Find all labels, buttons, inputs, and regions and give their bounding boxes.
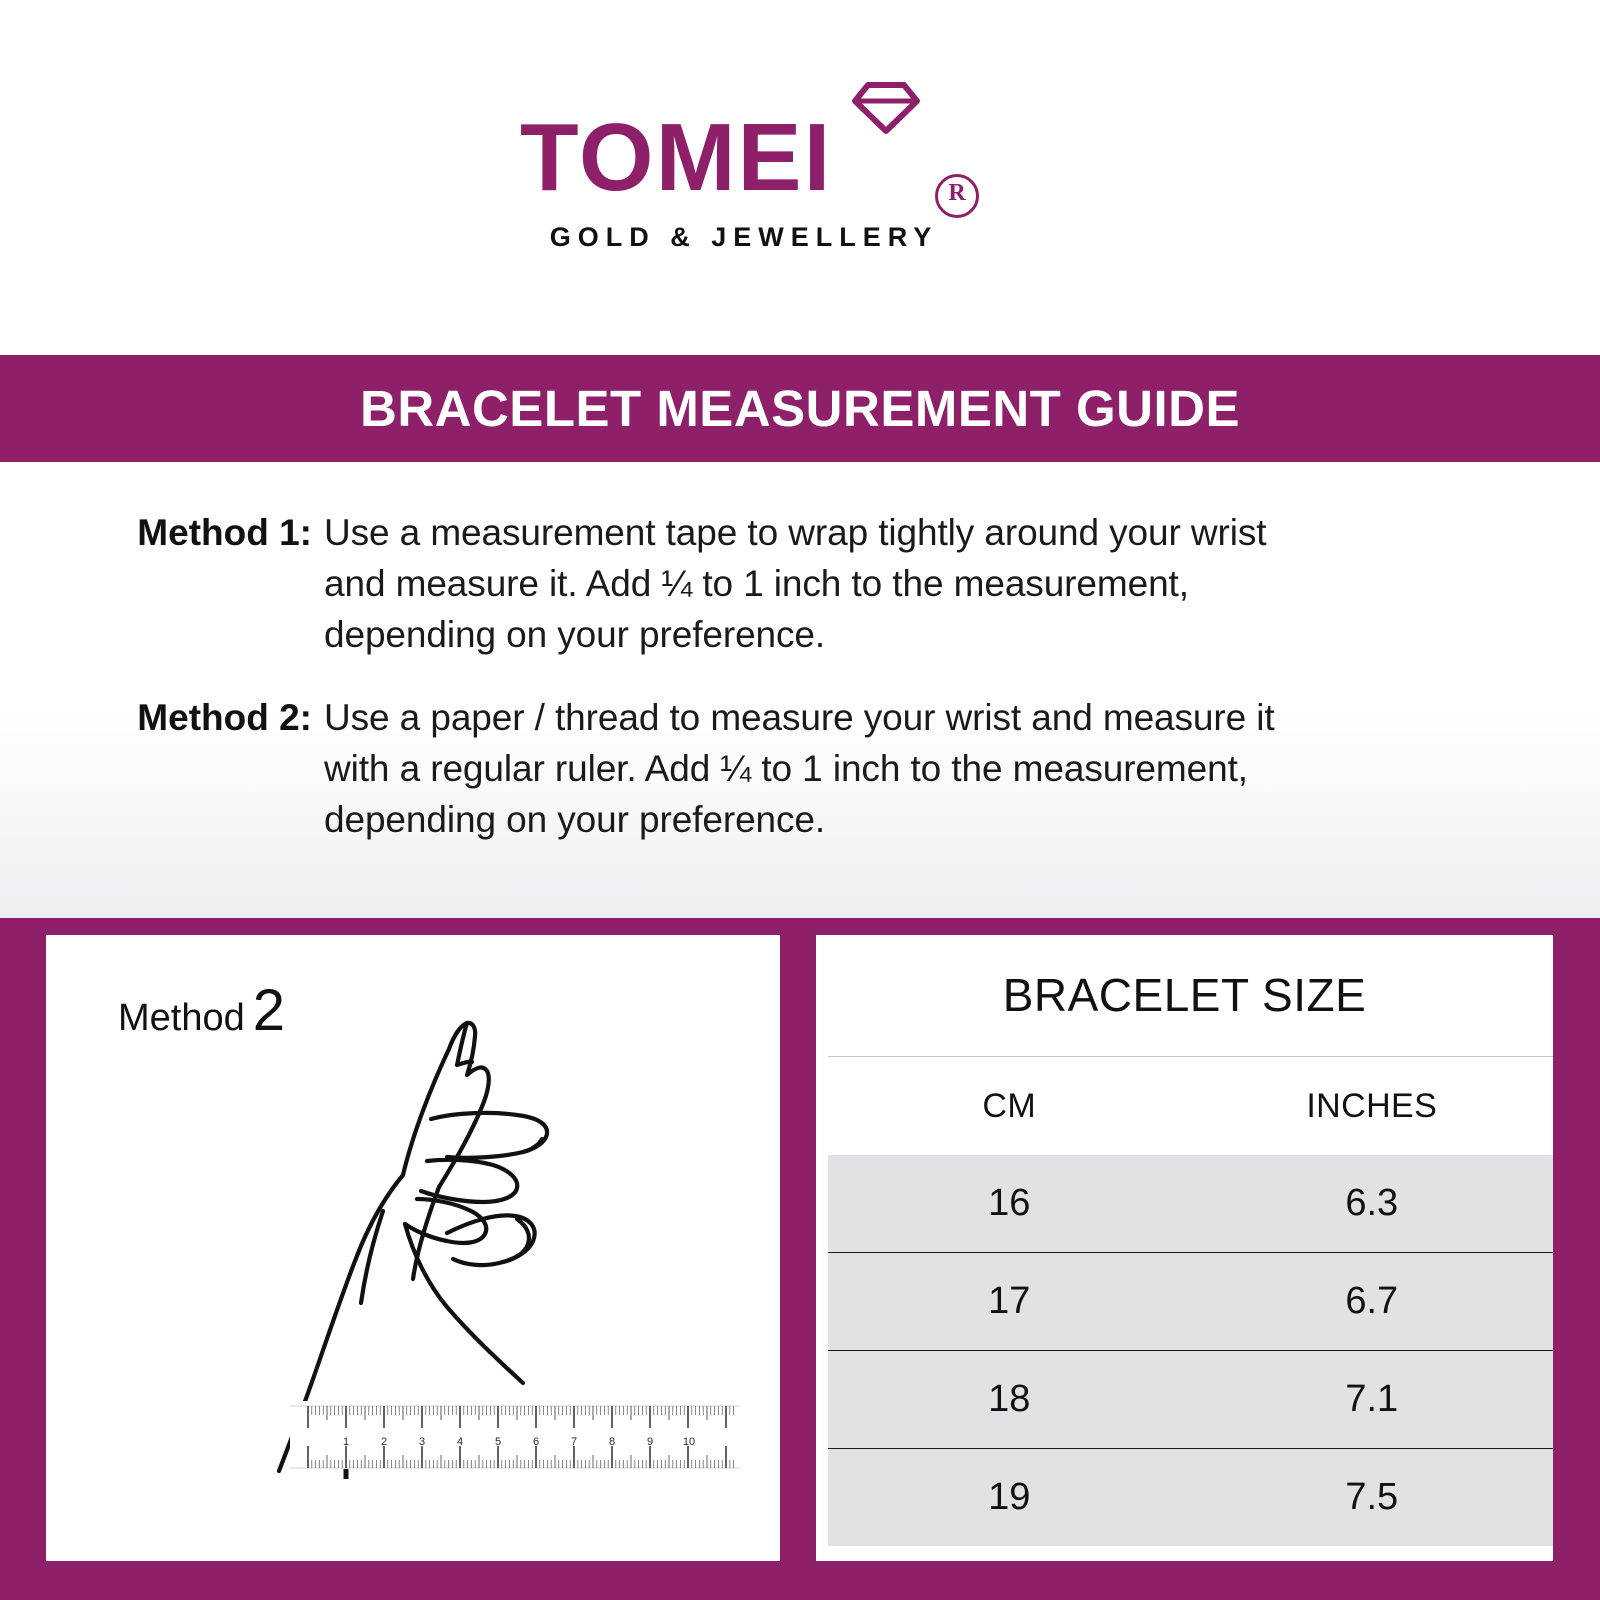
method-2-body: Use a paper / thread to measure your wri… <box>324 692 1484 845</box>
method-2-line-3: depending on your preference. <box>324 794 1484 845</box>
table-row: 18 7.1 <box>828 1351 1553 1449</box>
table-row: 17 6.7 <box>828 1253 1553 1351</box>
brand-tagline: GOLD & JEWELLERY <box>520 222 968 253</box>
ruler-label-3: 3 <box>419 1436 425 1448</box>
brand-wordmark: TOMEI <box>520 110 990 206</box>
size-table-col-inches: INCHES <box>1191 1057 1554 1155</box>
brand-logo: TOMEI R GOLD & JEWELLERY <box>520 82 1080 272</box>
ruler-label-9: 9 <box>647 1436 653 1448</box>
cell-cm: 17 <box>828 1253 1191 1351</box>
illustration-card: Method2 <box>46 935 780 1561</box>
cell-inches: 7.1 <box>1191 1351 1554 1449</box>
size-table-title: BRACELET SIZE <box>816 968 1553 1022</box>
method-1-label: Method 1: <box>112 507 312 558</box>
table-row: 19 7.5 <box>828 1449 1553 1547</box>
ruler-label-2: 2 <box>381 1436 387 1448</box>
cell-inches: 6.7 <box>1191 1253 1554 1351</box>
cell-inches: 7.5 <box>1191 1449 1554 1547</box>
cell-cm: 16 <box>828 1155 1191 1253</box>
size-table: CM INCHES 16 6.3 17 6.7 18 7.1 19 <box>828 1057 1553 1546</box>
bottom-panel-area: Method2 <box>0 918 1600 1600</box>
ruler-label-7: 7 <box>571 1436 577 1448</box>
illustration-method-word: Method <box>118 997 245 1039</box>
size-table-card: BRACELET SIZE CM INCHES 16 6.3 17 6.7 <box>816 935 1553 1561</box>
method-2-label: Method 2: <box>112 692 312 743</box>
size-table-header-row: CM INCHES <box>828 1057 1553 1155</box>
page-title-bar: BRACELET MEASUREMENT GUIDE <box>0 355 1600 462</box>
ruler-label-10: 10 <box>683 1436 695 1448</box>
cell-inches: 6.3 <box>1191 1155 1554 1253</box>
registered-trademark-icon: R <box>935 174 979 218</box>
method-1-line-3: depending on your preference. <box>324 609 1484 660</box>
methods-section: Method 1: Use a measurement tape to wrap… <box>0 462 1600 918</box>
ruler-icon: 1 2 3 4 5 6 7 8 9 10 <box>290 1397 740 1479</box>
ruler-label-6: 6 <box>533 1436 539 1448</box>
size-table-col-cm: CM <box>828 1057 1191 1155</box>
method-1-line-2: and measure it. Add ¼ to 1 inch to the m… <box>324 558 1484 609</box>
table-row: 16 6.3 <box>828 1155 1553 1253</box>
cell-cm: 19 <box>828 1449 1191 1547</box>
ruler-label-4: 4 <box>457 1436 463 1448</box>
method-1-body: Use a measurement tape to wrap tightly a… <box>324 507 1484 660</box>
page-title: BRACELET MEASUREMENT GUIDE <box>360 379 1240 438</box>
ruler-label-5: 5 <box>495 1436 501 1448</box>
cell-cm: 18 <box>828 1351 1191 1449</box>
method-1-line-1: Use a measurement tape to wrap tightly a… <box>324 507 1484 558</box>
ruler-label-8: 8 <box>609 1436 615 1448</box>
method-2-line-1: Use a paper / thread to measure your wri… <box>324 692 1484 743</box>
ruler-label-1: 1 <box>343 1436 349 1448</box>
brand-header: TOMEI R GOLD & JEWELLERY <box>0 0 1600 355</box>
method-2-line-2: with a regular ruler. Add ¼ to 1 inch to… <box>324 743 1484 794</box>
